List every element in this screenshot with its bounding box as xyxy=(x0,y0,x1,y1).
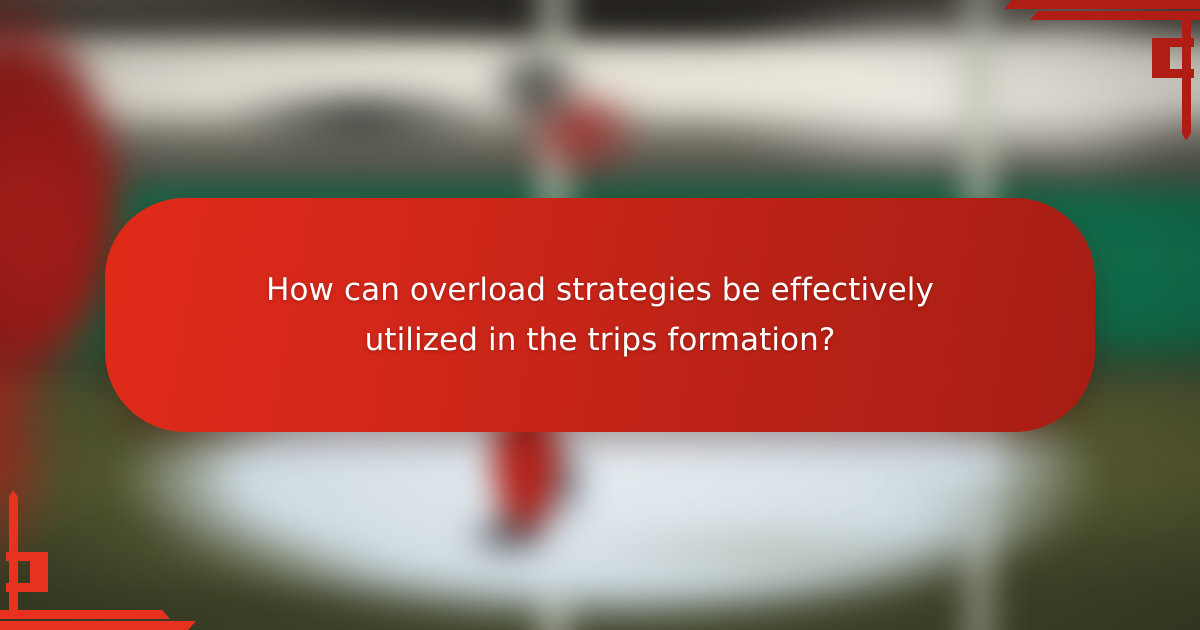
corner-bracket-bottom-left-icon xyxy=(0,490,200,630)
corner-bracket-top-right-icon xyxy=(1000,0,1200,140)
share-card-canvas: How can overload strategies be effective… xyxy=(0,0,1200,630)
question-text: How can overload strategies be effective… xyxy=(220,265,980,365)
question-card: How can overload strategies be effective… xyxy=(105,198,1095,432)
